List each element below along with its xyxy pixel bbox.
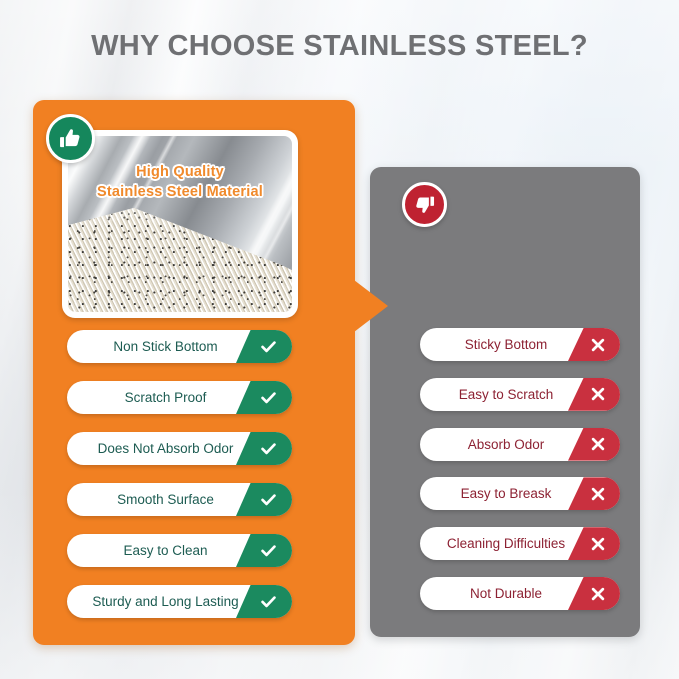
cross-icon xyxy=(568,378,620,411)
stainless-feature-label: Does Not Absorb Odor xyxy=(98,441,234,456)
stainless-feature-label: Scratch Proof xyxy=(125,390,207,405)
cross-icon xyxy=(568,477,620,510)
stainless-feature-row: Non Stick Bottom xyxy=(67,330,292,363)
infographic-canvas: WHY CHOOSE STAINLESS STEEL? Plastic Mate… xyxy=(0,0,679,679)
stainless-feature-row: Easy to Clean xyxy=(67,534,292,567)
plastic-feature-row: Absorb Odor xyxy=(420,428,620,461)
thumbs-down-icon xyxy=(402,182,447,227)
check-icon xyxy=(236,534,292,567)
arrow-right-icon xyxy=(354,280,388,332)
stainless-feature-label: Non Stick Bottom xyxy=(113,339,217,354)
cross-icon xyxy=(568,328,620,361)
stainless-feature-label: Sturdy and Long Lasting xyxy=(92,594,238,609)
plastic-feature-row: Cleaning Difficulties xyxy=(420,527,620,560)
stainless-caption-line-2: Stainless Steel Material xyxy=(68,182,292,202)
stainless-feature-label: Smooth Surface xyxy=(117,492,214,507)
stainless-feature-label: Easy to Clean xyxy=(123,543,207,558)
cross-icon xyxy=(568,428,620,461)
plastic-feature-row: Sticky Bottom xyxy=(420,328,620,361)
stainless-feature-row: Sturdy and Long Lasting xyxy=(67,585,292,618)
thumbs-up-icon xyxy=(46,114,95,163)
stainless-caption-line-1: High Quality xyxy=(68,162,292,182)
check-icon xyxy=(236,381,292,414)
plastic-feature-label: Cleaning Difficulties xyxy=(447,536,565,551)
plastic-feature-row: Not Durable xyxy=(420,577,620,610)
stainless-steel-photo: High Quality Stainless Steel Material xyxy=(68,136,292,312)
plastic-feature-label: Easy to Breask xyxy=(461,486,552,501)
plastic-feature-row: Easy to Breask xyxy=(420,477,620,510)
stainless-photo-frame: High Quality Stainless Steel Material xyxy=(62,130,298,318)
check-icon xyxy=(236,432,292,465)
page-title: WHY CHOOSE STAINLESS STEEL? xyxy=(0,30,679,63)
plastic-feature-row: Easy to Scratch xyxy=(420,378,620,411)
cross-icon xyxy=(568,527,620,560)
plastic-feature-label: Not Durable xyxy=(470,586,542,601)
stainless-feature-row: Scratch Proof xyxy=(67,381,292,414)
stainless-photo-caption: High Quality Stainless Steel Material xyxy=(68,162,292,202)
check-icon xyxy=(236,483,292,516)
stainless-feature-row: Does Not Absorb Odor xyxy=(67,432,292,465)
cross-icon xyxy=(568,577,620,610)
plastic-feature-label: Easy to Scratch xyxy=(459,387,554,402)
stainless-feature-row: Smooth Surface xyxy=(67,483,292,516)
check-icon xyxy=(236,330,292,363)
check-icon xyxy=(236,585,292,618)
plastic-feature-label: Sticky Bottom xyxy=(465,337,548,352)
plastic-feature-label: Absorb Odor xyxy=(468,437,545,452)
